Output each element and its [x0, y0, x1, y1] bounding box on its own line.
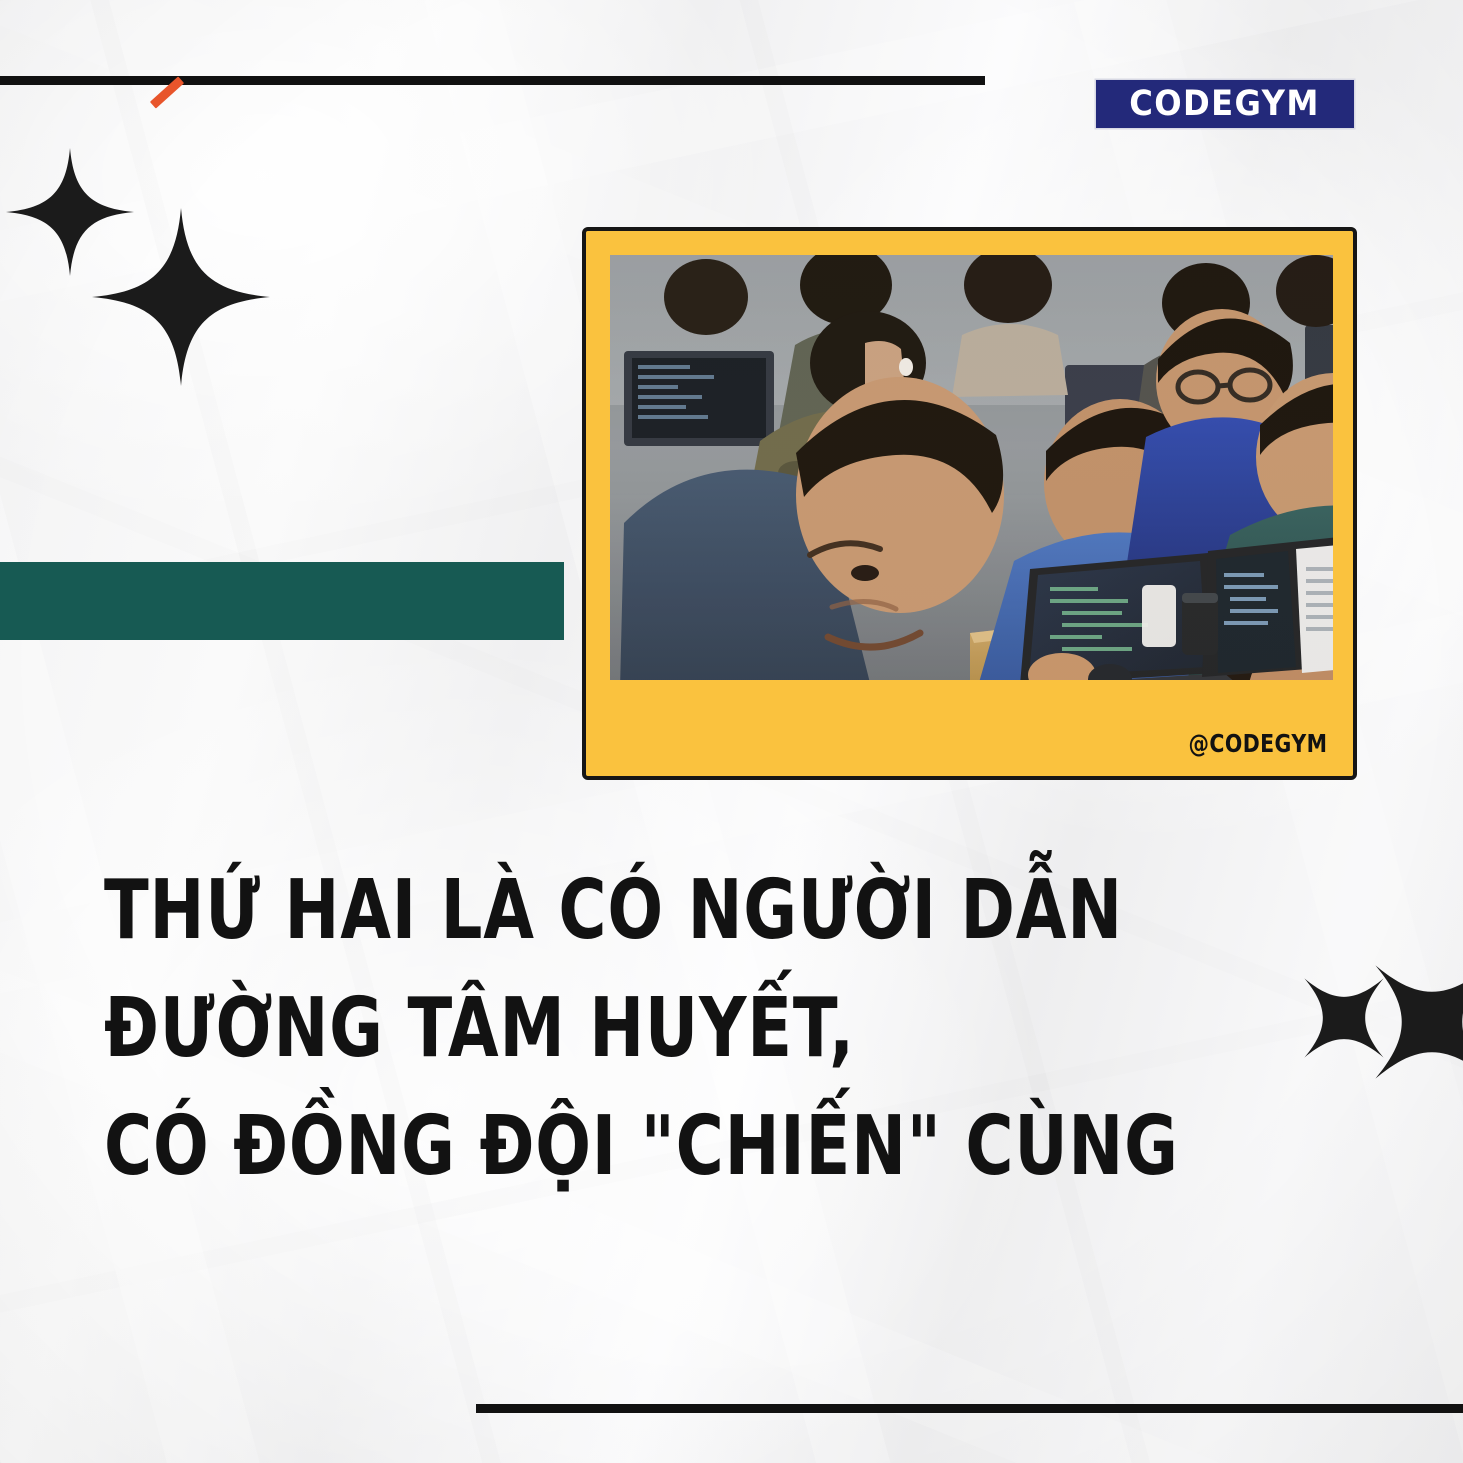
codegym-logo-text: CODEGYM [1130, 87, 1320, 122]
photo-card: @CODEGYM [582, 227, 1357, 780]
sparkle-top-large-icon [92, 208, 270, 386]
headline-line-3: CÓ ĐỒNG ĐỘI "CHIẾN" CÙNG [104, 1088, 1000, 1206]
top-divider [0, 76, 985, 85]
bottom-divider [476, 1404, 1463, 1413]
headline-line-1: THỨ HAI LÀ CÓ NGƯỜI DẪN [104, 852, 1000, 970]
poster-canvas: CODEGYM [0, 0, 1463, 1463]
codegym-logo[interactable]: CODEGYM [1096, 80, 1354, 128]
classroom-photo [610, 255, 1333, 680]
headline-line-2: ĐƯỜNG TÂM HUYẾT, [104, 970, 1000, 1088]
headline: THỨ HAI LÀ CÓ NGƯỜI DẪN ĐƯỜNG TÂM HUYẾT,… [104, 852, 1224, 1206]
teal-accent-band [0, 562, 564, 640]
photo-handle-label: @CODEGYM [1188, 729, 1327, 758]
